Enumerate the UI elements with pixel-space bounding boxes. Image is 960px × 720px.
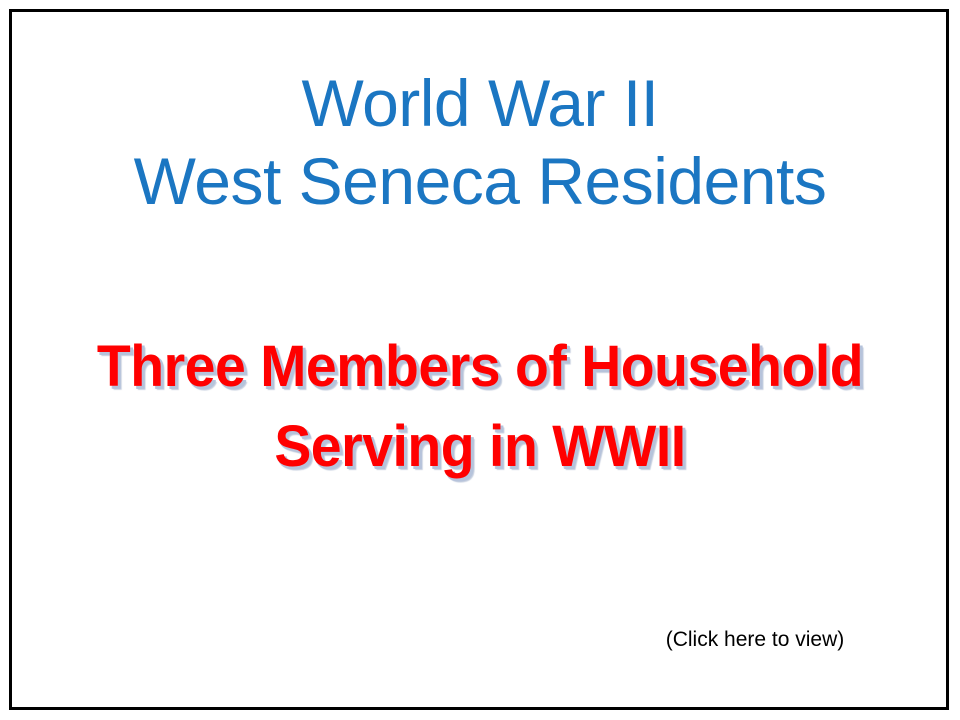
slide-content: World War II West Seneca Residents Three… — [12, 12, 948, 707]
title-line-2: West Seneca Residents — [12, 142, 948, 220]
subtitle-line-2: Serving in WWII — [33, 407, 927, 487]
slide-subtitle: Three Members of Household Serving in WW… — [12, 327, 948, 487]
click-here-to-view-link[interactable]: (Click here to view) — [555, 625, 955, 655]
subtitle-line-1: Three Members of Household — [33, 327, 927, 407]
presentation-slide: World War II West Seneca Residents Three… — [0, 0, 960, 720]
slide-title: World War II West Seneca Residents — [12, 64, 948, 220]
title-line-1: World War II — [12, 64, 948, 142]
